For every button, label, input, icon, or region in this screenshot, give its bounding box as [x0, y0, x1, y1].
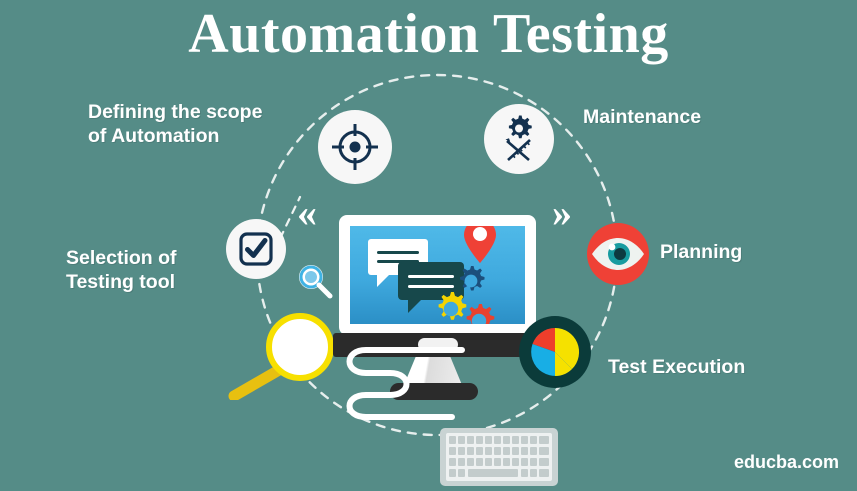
pie-chart-icon[interactable] [518, 315, 592, 389]
label-maintenance: Maintenance [583, 105, 701, 129]
maintenance-badge[interactable] [484, 104, 554, 174]
checkbox-badge[interactable] [226, 219, 286, 279]
eye-icon[interactable] [586, 222, 650, 286]
label-test-execution: Test Execution [608, 355, 745, 379]
chevron-left-icon: « [297, 193, 317, 233]
infographic-canvas: Automation Testing « » [0, 0, 857, 491]
cable-icon [330, 345, 470, 435]
watermark: educba.com [734, 452, 839, 473]
label-planning: Planning [660, 240, 742, 264]
chevron-right-icon: » [552, 193, 572, 233]
gear-pencil-ruler-icon [494, 113, 544, 165]
gear-icon-red [462, 304, 496, 324]
target-badge[interactable] [318, 110, 392, 184]
label-defining-scope: Defining the scope of Automation [88, 100, 262, 148]
magnifier-icon-small [296, 262, 334, 300]
monitor-bezel [339, 215, 536, 335]
keyboard-icon[interactable] [440, 428, 558, 486]
keyboard-keys-area [446, 433, 552, 481]
map-pin-icon [463, 226, 497, 264]
monitor-screen [350, 226, 525, 324]
label-selection-testing-tool: Selection of Testing tool [66, 246, 177, 294]
checkbox-checked-icon [237, 230, 275, 268]
target-crosshair-icon [330, 122, 380, 172]
